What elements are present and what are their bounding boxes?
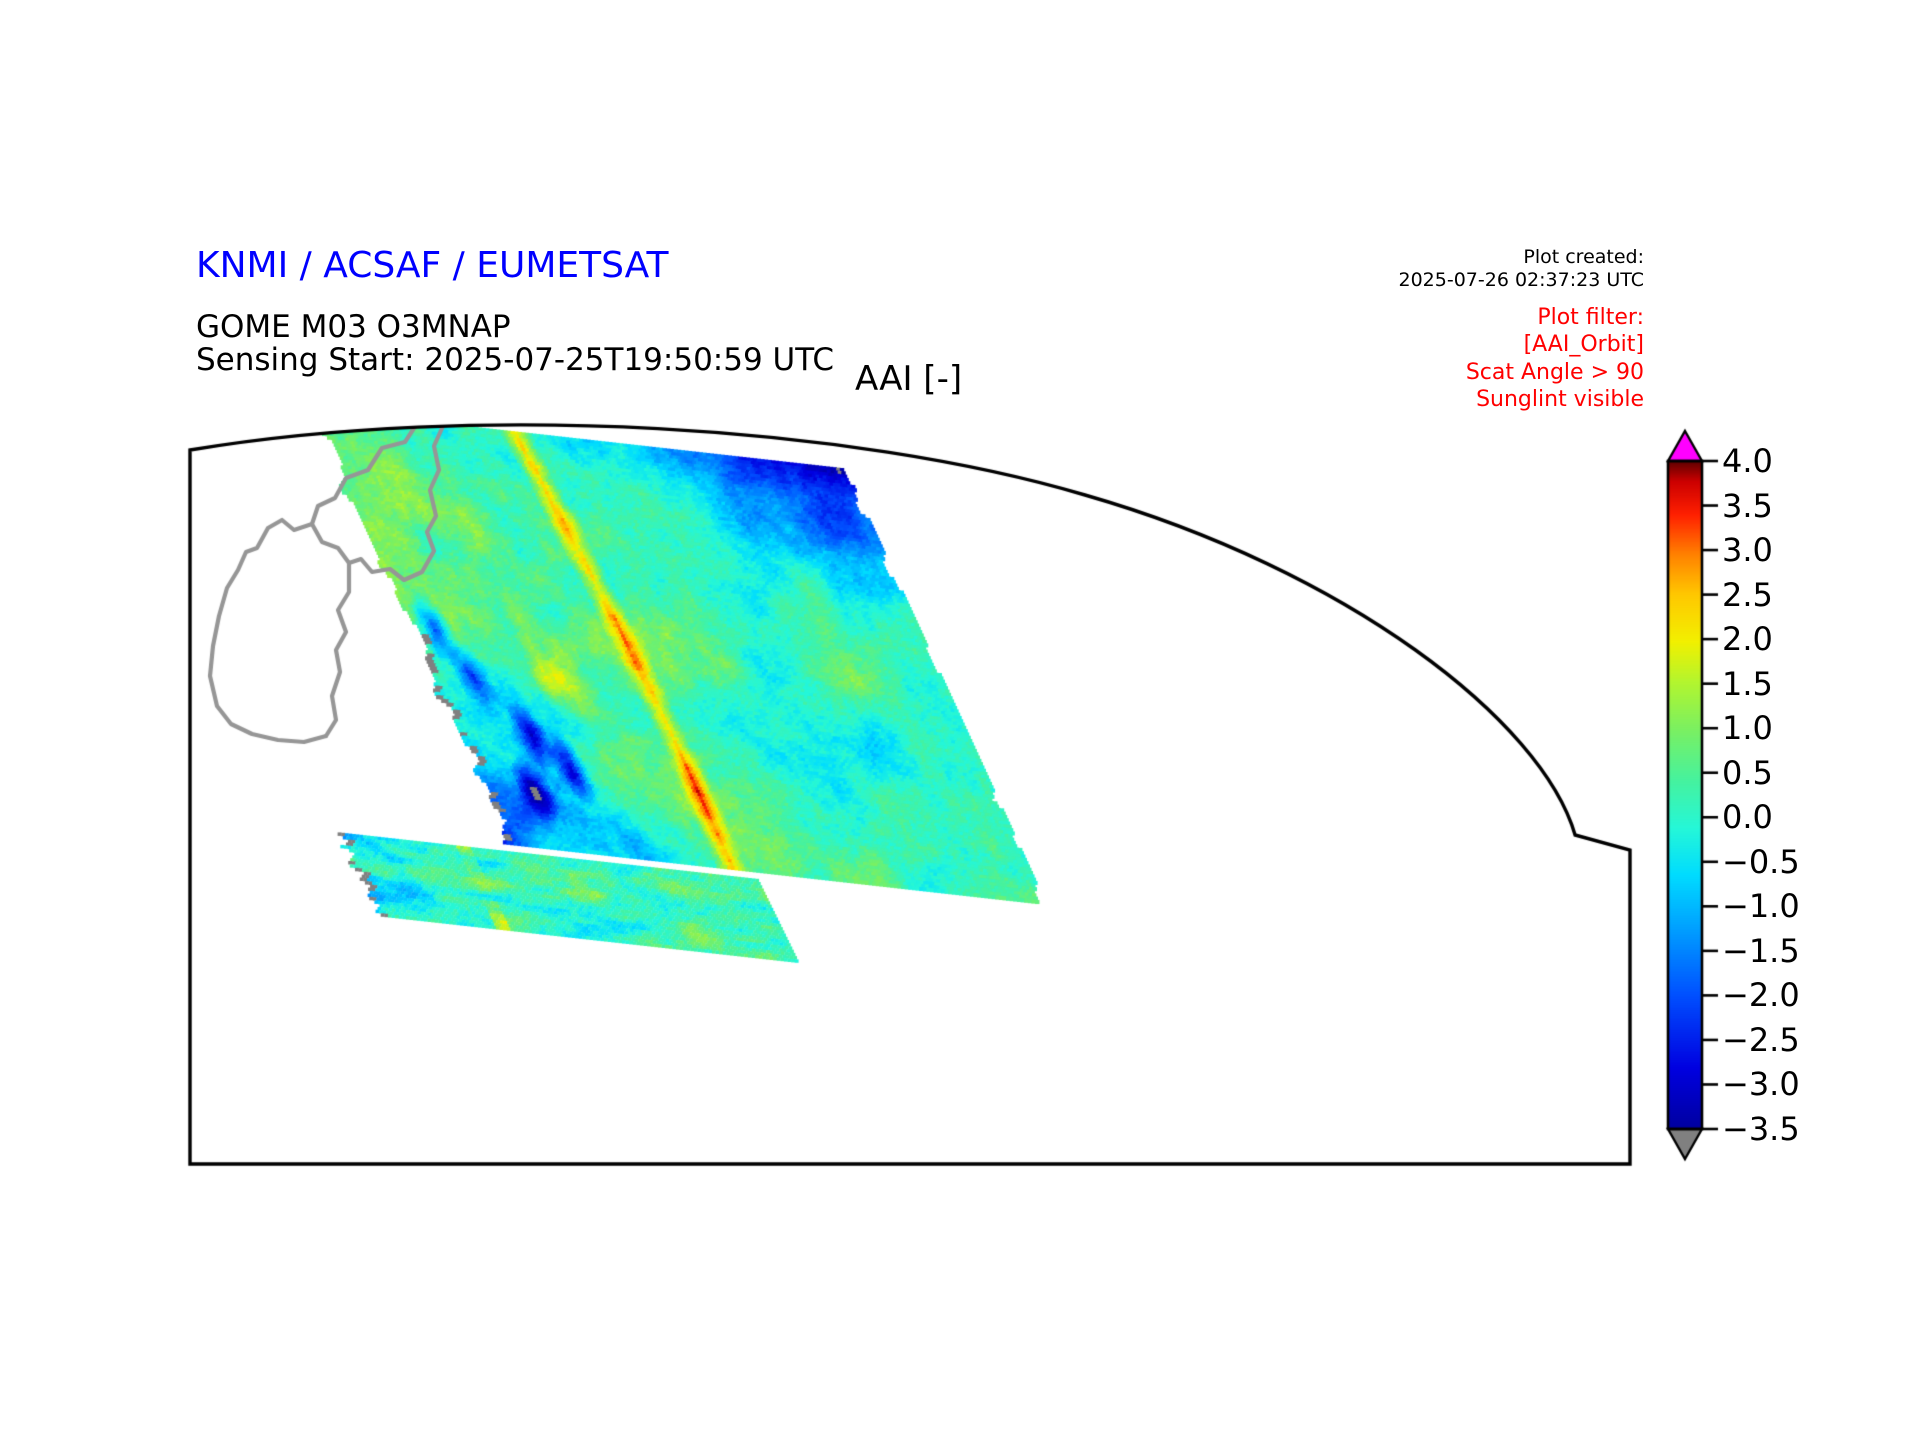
colorbar-tick-label: −1.0 bbox=[1722, 890, 1800, 922]
colorbar-tick-label: 0.0 bbox=[1722, 801, 1773, 833]
colorbar-tick-label: −3.5 bbox=[1722, 1113, 1800, 1145]
colorbar-tick-label: 3.5 bbox=[1722, 490, 1773, 522]
colorbar-tick-label: 0.5 bbox=[1722, 757, 1773, 789]
plot-created-title: Plot created: bbox=[1399, 246, 1645, 269]
plot-filter-block: Plot filter: [AAI_Orbit] Scat Angle > 90… bbox=[1466, 304, 1644, 413]
colorbar-tick-label: −2.0 bbox=[1722, 979, 1800, 1011]
plot-created-value: 2025-07-26 02:37:23 UTC bbox=[1399, 269, 1645, 292]
map-plot-area bbox=[186, 420, 1636, 1170]
colorbar-tick-label: 4.0 bbox=[1722, 445, 1773, 477]
colorbar-tick-label: −2.5 bbox=[1722, 1024, 1800, 1056]
colorbar-tick-label: −3.0 bbox=[1722, 1068, 1800, 1100]
organisation-title: KNMI / ACSAF / EUMETSAT bbox=[196, 248, 668, 284]
colorbar-tick-label: 1.0 bbox=[1722, 712, 1773, 744]
plot-filter-sunglint: Sunglint visible bbox=[1466, 386, 1644, 413]
product-title: GOME M03 O3MNAP bbox=[196, 312, 511, 343]
plot-filter-name: [AAI_Orbit] bbox=[1466, 331, 1644, 358]
colorbar-tick-label: 2.0 bbox=[1722, 623, 1773, 655]
colorbar-tick-label: 3.0 bbox=[1722, 534, 1773, 566]
colorbar-tick-label: −1.5 bbox=[1722, 935, 1800, 967]
quantity-label: AAI [-] bbox=[855, 362, 962, 396]
colorbar-tick-label: −0.5 bbox=[1722, 846, 1800, 878]
sensing-start-label: Sensing Start: 2025-07-25T19:50:59 UTC bbox=[196, 345, 834, 376]
plot-figure: KNMI / ACSAF / EUMETSAT GOME M03 O3MNAP … bbox=[0, 0, 1920, 1440]
plot-filter-scat-angle: Scat Angle > 90 bbox=[1466, 359, 1644, 386]
plot-created-block: Plot created: 2025-07-26 02:37:23 UTC bbox=[1399, 246, 1645, 292]
plot-filter-title: Plot filter: bbox=[1466, 304, 1644, 331]
colorbar-tick-label: 2.5 bbox=[1722, 579, 1773, 611]
colorbar-tick-labels: 4.03.53.02.52.01.51.00.50.0−0.5−1.0−1.5−… bbox=[1722, 425, 1862, 1165]
colorbar-tick-label: 1.5 bbox=[1722, 668, 1773, 700]
